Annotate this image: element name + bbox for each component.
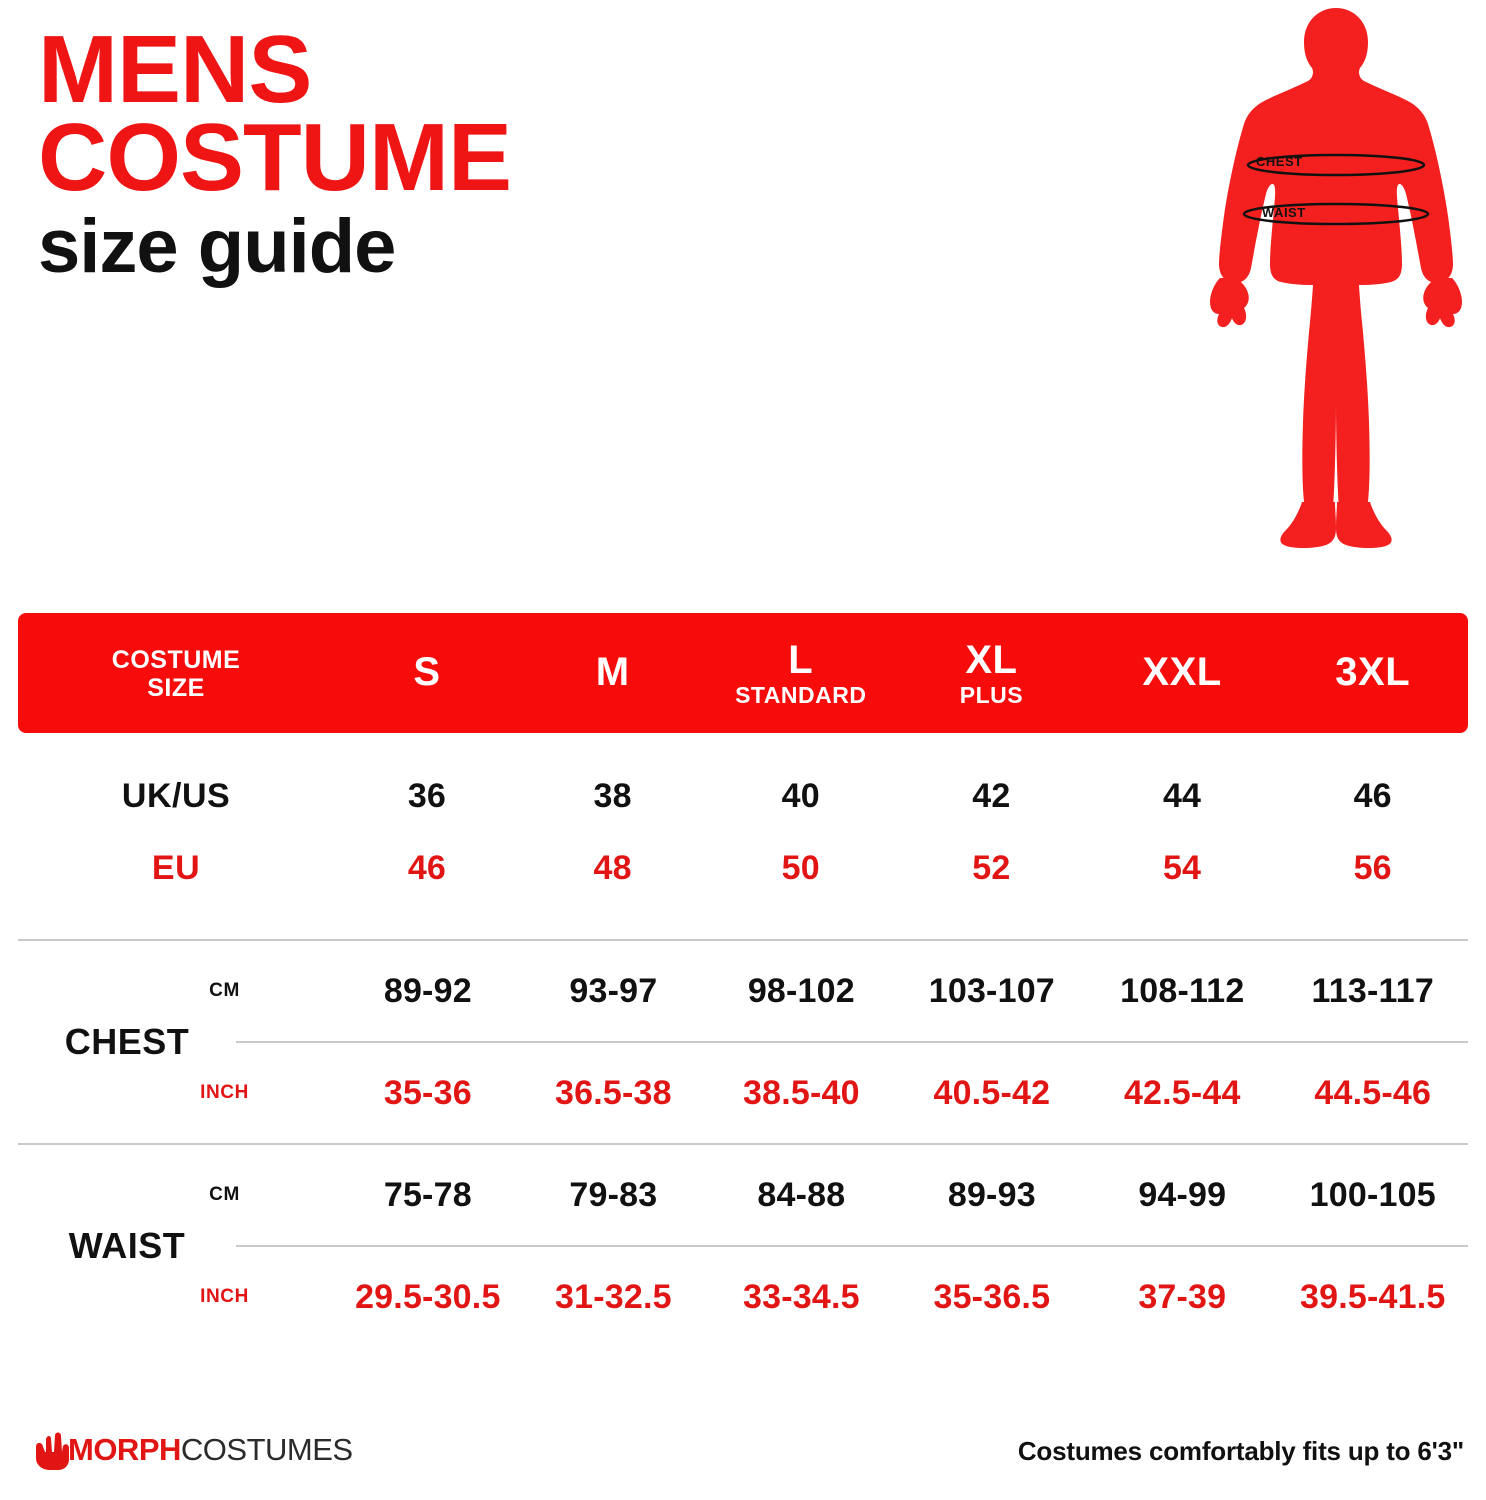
waist-cm-m: 79-83 bbox=[521, 1176, 707, 1215]
logo-text-morph: MORPH bbox=[68, 1432, 181, 1468]
page-subtitle: size guide bbox=[38, 207, 738, 287]
section-label-waist: WAIST bbox=[18, 1145, 236, 1347]
chest-inch-3xl: 44.5-46 bbox=[1278, 1074, 1468, 1113]
footer-note: Costumes comfortably fits up to 6'3" bbox=[1018, 1436, 1464, 1467]
header-size-s: S bbox=[334, 651, 520, 695]
chest-inch-m: 36.5-38 bbox=[521, 1074, 707, 1113]
header-costume-size: COSTUME SIZE bbox=[18, 645, 334, 702]
header-size-m: M bbox=[520, 651, 706, 695]
header-size-xl-sub: PLUS bbox=[896, 683, 1087, 707]
header-size-3xl-main: 3XL bbox=[1277, 651, 1468, 693]
header-size-l-sub: STANDARD bbox=[705, 683, 896, 707]
waist-cm-l: 84-88 bbox=[706, 1176, 896, 1215]
chest-inch-l: 38.5-40 bbox=[706, 1074, 896, 1113]
chest-measure-label: CHEST bbox=[1256, 154, 1303, 169]
header-size-l-main: L bbox=[705, 639, 896, 681]
ukus-value-xl: 42 bbox=[896, 777, 1087, 816]
eu-value-xl: 52 bbox=[896, 849, 1087, 888]
chest-cm-xl: 103-107 bbox=[897, 972, 1087, 1011]
ukus-value-xxl: 44 bbox=[1087, 777, 1278, 816]
chest-cm-m: 93-97 bbox=[521, 972, 707, 1011]
chest-cm-s: 89-92 bbox=[335, 972, 521, 1011]
ukus-value-3xl: 46 bbox=[1277, 777, 1468, 816]
waist-inch-m: 31-32.5 bbox=[521, 1278, 707, 1317]
ukus-value-l: 40 bbox=[705, 777, 896, 816]
header-size-l: L STANDARD bbox=[705, 639, 896, 707]
page-footer: MORPH COSTUMES Costumes comfortably fits… bbox=[0, 1428, 1486, 1478]
table-header-row: COSTUME SIZE S M L STANDARD XL PLUS XXL … bbox=[18, 613, 1468, 733]
page-title: MENS COSTUME size guide bbox=[38, 26, 738, 286]
body-silhouette-illustration: CHEST WAIST bbox=[1186, 2, 1486, 558]
eu-value-m: 48 bbox=[520, 849, 706, 888]
chest-cm-l: 98-102 bbox=[706, 972, 896, 1011]
eu-value-xxl: 54 bbox=[1087, 849, 1278, 888]
ukus-value-s: 36 bbox=[334, 777, 520, 816]
header-costume-size-line2: SIZE bbox=[18, 675, 334, 701]
title-line-1: MENS bbox=[38, 26, 738, 114]
title-line-2: COSTUME bbox=[38, 114, 738, 202]
chest-inch-xl: 40.5-42 bbox=[897, 1074, 1087, 1113]
eu-value-l: 50 bbox=[705, 849, 896, 888]
ukus-value-m: 38 bbox=[520, 777, 706, 816]
size-chart-table: COSTUME SIZE S M L STANDARD XL PLUS XXL … bbox=[18, 613, 1468, 1347]
header-size-xl: XL PLUS bbox=[896, 639, 1087, 707]
chest-cm-3xl: 113-117 bbox=[1278, 972, 1468, 1011]
header-size-s-main: S bbox=[334, 651, 520, 693]
logo-text-costumes: COSTUMES bbox=[181, 1432, 353, 1468]
eu-value-3xl: 56 bbox=[1277, 849, 1468, 888]
chest-inch-s: 35-36 bbox=[335, 1074, 521, 1113]
eu-value-s: 46 bbox=[334, 849, 520, 888]
header-costume-size-line1: COSTUME bbox=[18, 647, 334, 673]
header-size-xxl: XXL bbox=[1087, 651, 1278, 695]
brand-logo: MORPH COSTUMES bbox=[34, 1428, 353, 1472]
header-size-3xl: 3XL bbox=[1277, 651, 1468, 695]
chest-cm-xxl: 108-112 bbox=[1087, 972, 1277, 1011]
section-waist: WAIST CM 75-78 79-83 84-88 89-93 94-99 1… bbox=[18, 1145, 1468, 1347]
header-size-m-main: M bbox=[520, 651, 706, 693]
section-label-chest: CHEST bbox=[18, 941, 236, 1143]
header-size-xl-main: XL bbox=[896, 639, 1087, 681]
male-body-silhouette-icon bbox=[1186, 2, 1486, 558]
waist-inch-l: 33-34.5 bbox=[706, 1278, 896, 1317]
header-size-xxl-main: XXL bbox=[1087, 651, 1278, 693]
waist-inch-s: 29.5-30.5 bbox=[335, 1278, 521, 1317]
waist-cm-xl: 89-93 bbox=[897, 1176, 1087, 1215]
waist-inch-xxl: 37-39 bbox=[1087, 1278, 1277, 1317]
waist-inch-3xl: 39.5-41.5 bbox=[1278, 1278, 1468, 1317]
table-row-ukus: UK/US 36 38 40 42 44 46 bbox=[18, 763, 1468, 829]
waist-cm-xxl: 94-99 bbox=[1087, 1176, 1277, 1215]
table-row-eu: EU 46 48 50 52 54 56 bbox=[18, 835, 1468, 901]
waist-inch-xl: 35-36.5 bbox=[897, 1278, 1087, 1317]
rock-hand-icon bbox=[34, 1430, 72, 1470]
chest-inch-xxl: 42.5-44 bbox=[1087, 1074, 1277, 1113]
waist-cm-3xl: 100-105 bbox=[1278, 1176, 1468, 1215]
row-label-ukus: UK/US bbox=[18, 777, 334, 816]
section-chest: CHEST CM 89-92 93-97 98-102 103-107 108-… bbox=[18, 941, 1468, 1143]
row-label-eu: EU bbox=[18, 849, 334, 888]
waist-cm-s: 75-78 bbox=[335, 1176, 521, 1215]
waist-measure-label: WAIST bbox=[1262, 205, 1306, 220]
